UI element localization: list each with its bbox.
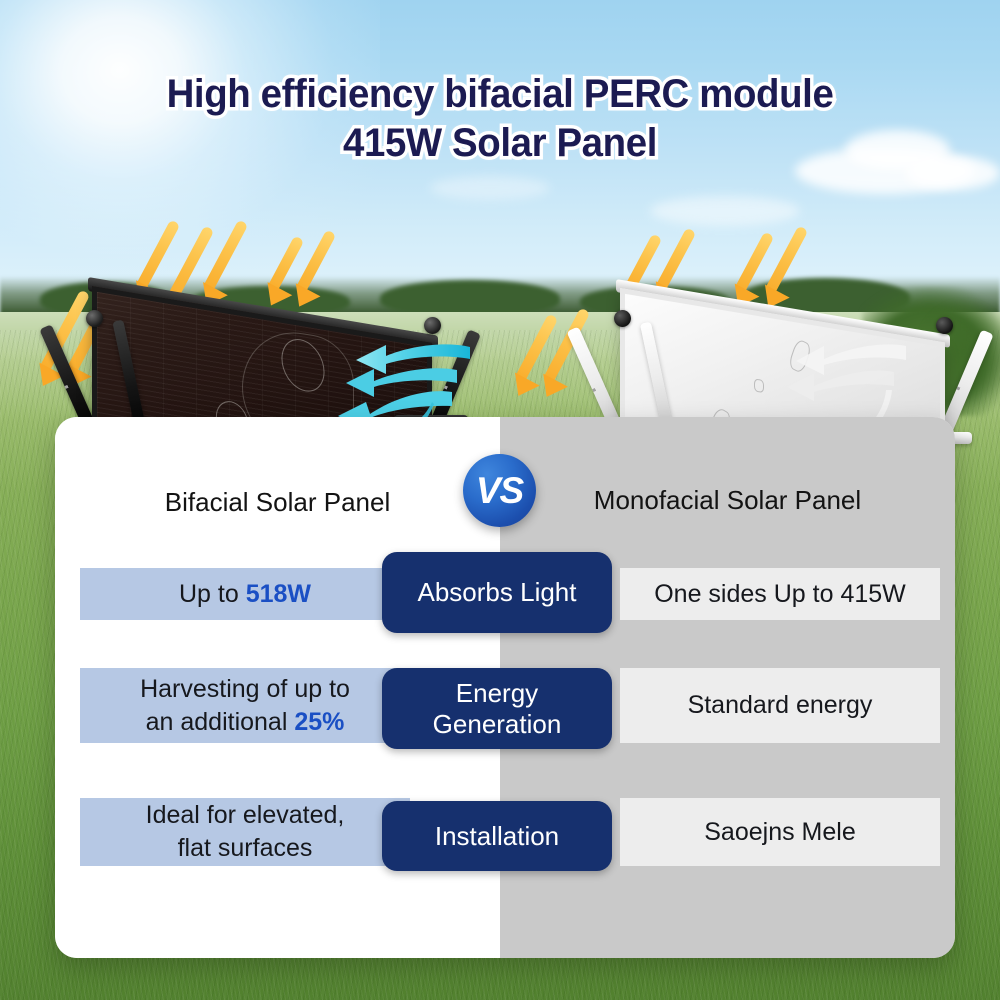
row-feature-pill[interactable]: EnergyGeneration: [382, 668, 612, 749]
row1-left-plain: Up to: [179, 580, 246, 608]
row2-feature-line2: Generation: [433, 709, 562, 739]
vs-badge: VS: [463, 454, 536, 527]
panel-pivot: [86, 310, 103, 327]
row-feature-pill[interactable]: Absorbs Light: [382, 552, 612, 633]
row3-left-line2: flat surfaces: [178, 834, 313, 862]
row1-feature-label: Absorbs Light: [418, 577, 577, 608]
row-value-left: Ideal for elevated,flat surfaces: [80, 798, 410, 866]
row-value-left: Harvesting of up toan additional 25%: [80, 668, 410, 743]
row2-right-value: Standard energy: [688, 689, 873, 722]
row-value-right: Saoejns Mele: [620, 798, 940, 866]
row-value-left: Up to 518W: [80, 568, 410, 620]
row1-left-highlight: 518W: [246, 580, 311, 608]
row-feature-pill[interactable]: Installation: [382, 801, 612, 871]
panel-pivot: [614, 310, 631, 327]
infographic-stage: High efficiency bifacial PERC module 415…: [0, 0, 1000, 1000]
page-title: High efficiency bifacial PERC module 415…: [20, 70, 980, 168]
column-header-monofacial: Monofacial Solar Panel: [500, 485, 955, 516]
vs-label: VS: [476, 470, 523, 512]
row-value-right: One sides Up to 415W: [620, 568, 940, 620]
row2-left-line1: Harvesting of up to: [140, 675, 350, 703]
tree-lump: [380, 280, 560, 316]
panel-pivot: [936, 317, 953, 334]
column-header-bifacial: Bifacial Solar Panel: [55, 487, 500, 518]
row2-feature-line1: Energy: [456, 678, 538, 708]
title-line-1: High efficiency bifacial PERC module: [167, 72, 834, 116]
row3-feature-label: Installation: [435, 821, 559, 852]
cloud: [430, 176, 550, 200]
row1-right-value: One sides Up to 415W: [654, 578, 906, 611]
cloud: [650, 196, 800, 226]
row3-left-line1: Ideal for elevated,: [146, 801, 345, 829]
panel-pivot: [424, 317, 441, 334]
title-line-2: 415W Solar Panel: [20, 119, 980, 168]
row2-left-line2: an additional: [146, 708, 295, 736]
row-value-right: Standard energy: [620, 668, 940, 743]
row2-left-highlight: 25%: [294, 708, 344, 736]
row3-right-value: Saoejns Mele: [704, 816, 855, 849]
